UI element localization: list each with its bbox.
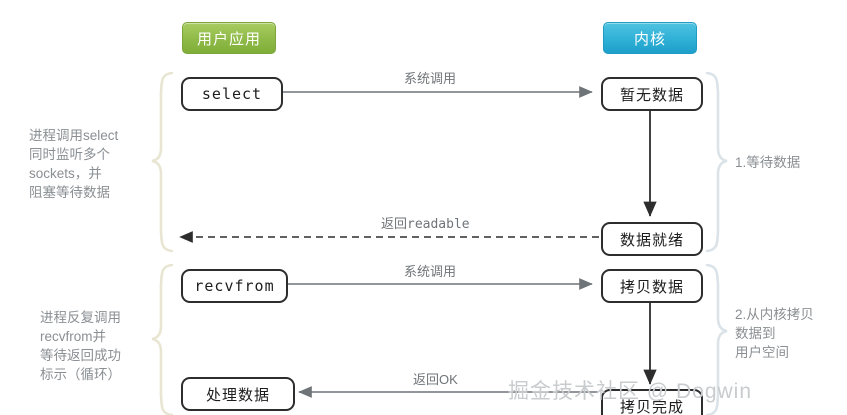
edge-label-return-readable: 返回readable	[381, 213, 470, 232]
note-left-bottom: 进程反复调用 recvfrom并 等待返回成功 标示（循环）	[40, 308, 155, 384]
edge-label-syscall-select: 系统调用	[404, 68, 456, 87]
brace-left-bottom	[152, 265, 172, 415]
brace-right-top	[707, 73, 727, 251]
node-copy-data: 拷贝数据	[601, 269, 703, 303]
node-recvfrom: recvfrom	[181, 269, 288, 303]
node-no-data: 暂无数据	[601, 77, 703, 111]
node-select: select	[181, 77, 283, 111]
badge-user-application: 用户应用	[182, 22, 276, 54]
badge-kernel: 内核	[603, 22, 697, 54]
node-data-ready: 数据就绪	[601, 222, 703, 256]
watermark: 掘金技术社区 @ Dogwin	[508, 375, 752, 405]
node-process-data: 处理数据	[181, 377, 295, 411]
diagram-canvas: 用户应用 内核 select recvfrom 处理数据 暂无数据 数据就绪 拷…	[0, 0, 847, 415]
edge-label-syscall-recvfrom: 系统调用	[404, 261, 456, 280]
note-right-bottom: 2.从内核拷贝 数据到 用户空间	[735, 305, 845, 362]
brace-left-top	[152, 73, 172, 251]
note-right-top: 1.等待数据	[735, 153, 845, 172]
edge-label-return-ok: 返回OK	[413, 369, 458, 388]
note-left-top: 进程调用select 同时监听多个 sockets，并 阻塞等待数据	[29, 126, 149, 202]
